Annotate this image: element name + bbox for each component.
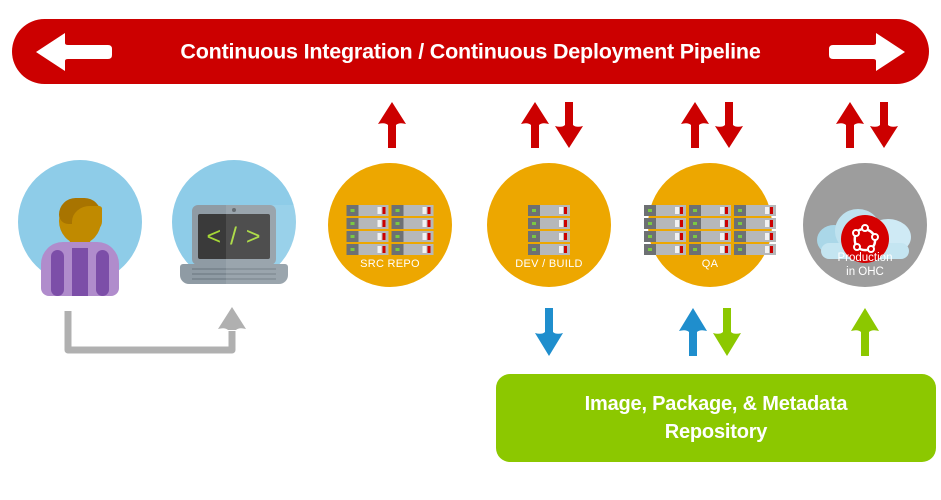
repository-label: Image, Package, & Metadata Repository — [585, 390, 848, 446]
node-qa[interactable]: QA — [648, 163, 772, 287]
arrow-down-dev-build — [552, 100, 586, 150]
arrow-up-src-repo — [375, 100, 409, 150]
server-rack-icon — [644, 205, 776, 255]
developer-to-workstation-connector — [60, 305, 260, 360]
node-label-src-repo: SRC REPO — [328, 258, 452, 271]
arrow-up-production-repo — [848, 306, 882, 358]
node-production[interactable]: Production in OHC — [803, 163, 927, 287]
arrow-down-dev-build-repo — [532, 306, 566, 358]
arrow-up-qa — [678, 100, 712, 150]
node-developer[interactable] — [18, 160, 142, 284]
node-label-qa: QA — [648, 258, 772, 271]
node-dev-build[interactable]: DEV / BUILD — [487, 163, 611, 287]
server-rack-icon — [347, 205, 434, 255]
arrow-right-icon — [827, 29, 909, 75]
node-label-dev-build: DEV / BUILD — [487, 258, 611, 271]
diagram-canvas: Continuous Integration / Continuous Depl… — [0, 0, 941, 500]
page-title: Continuous Integration / Continuous Depl… — [12, 39, 929, 64]
node-label-production: Production in OHC — [803, 251, 927, 279]
node-src-repo[interactable]: SRC REPO — [328, 163, 452, 287]
laptop-code-icon: < / > — [180, 205, 288, 285]
server-rack-icon — [528, 205, 570, 255]
pipeline-banner: Continuous Integration / Continuous Depl… — [12, 19, 929, 84]
repository-box[interactable]: Image, Package, & Metadata Repository — [496, 374, 936, 462]
person-icon — [41, 198, 119, 294]
arrow-up-production — [833, 100, 867, 150]
arrow-up-qa-repo — [676, 306, 710, 358]
node-workstation[interactable]: < / > — [172, 160, 296, 284]
arrow-down-qa — [712, 100, 746, 150]
arrow-down-production — [867, 100, 901, 150]
arrow-up-dev-build — [518, 100, 552, 150]
arrow-down-qa-repo — [710, 306, 744, 358]
